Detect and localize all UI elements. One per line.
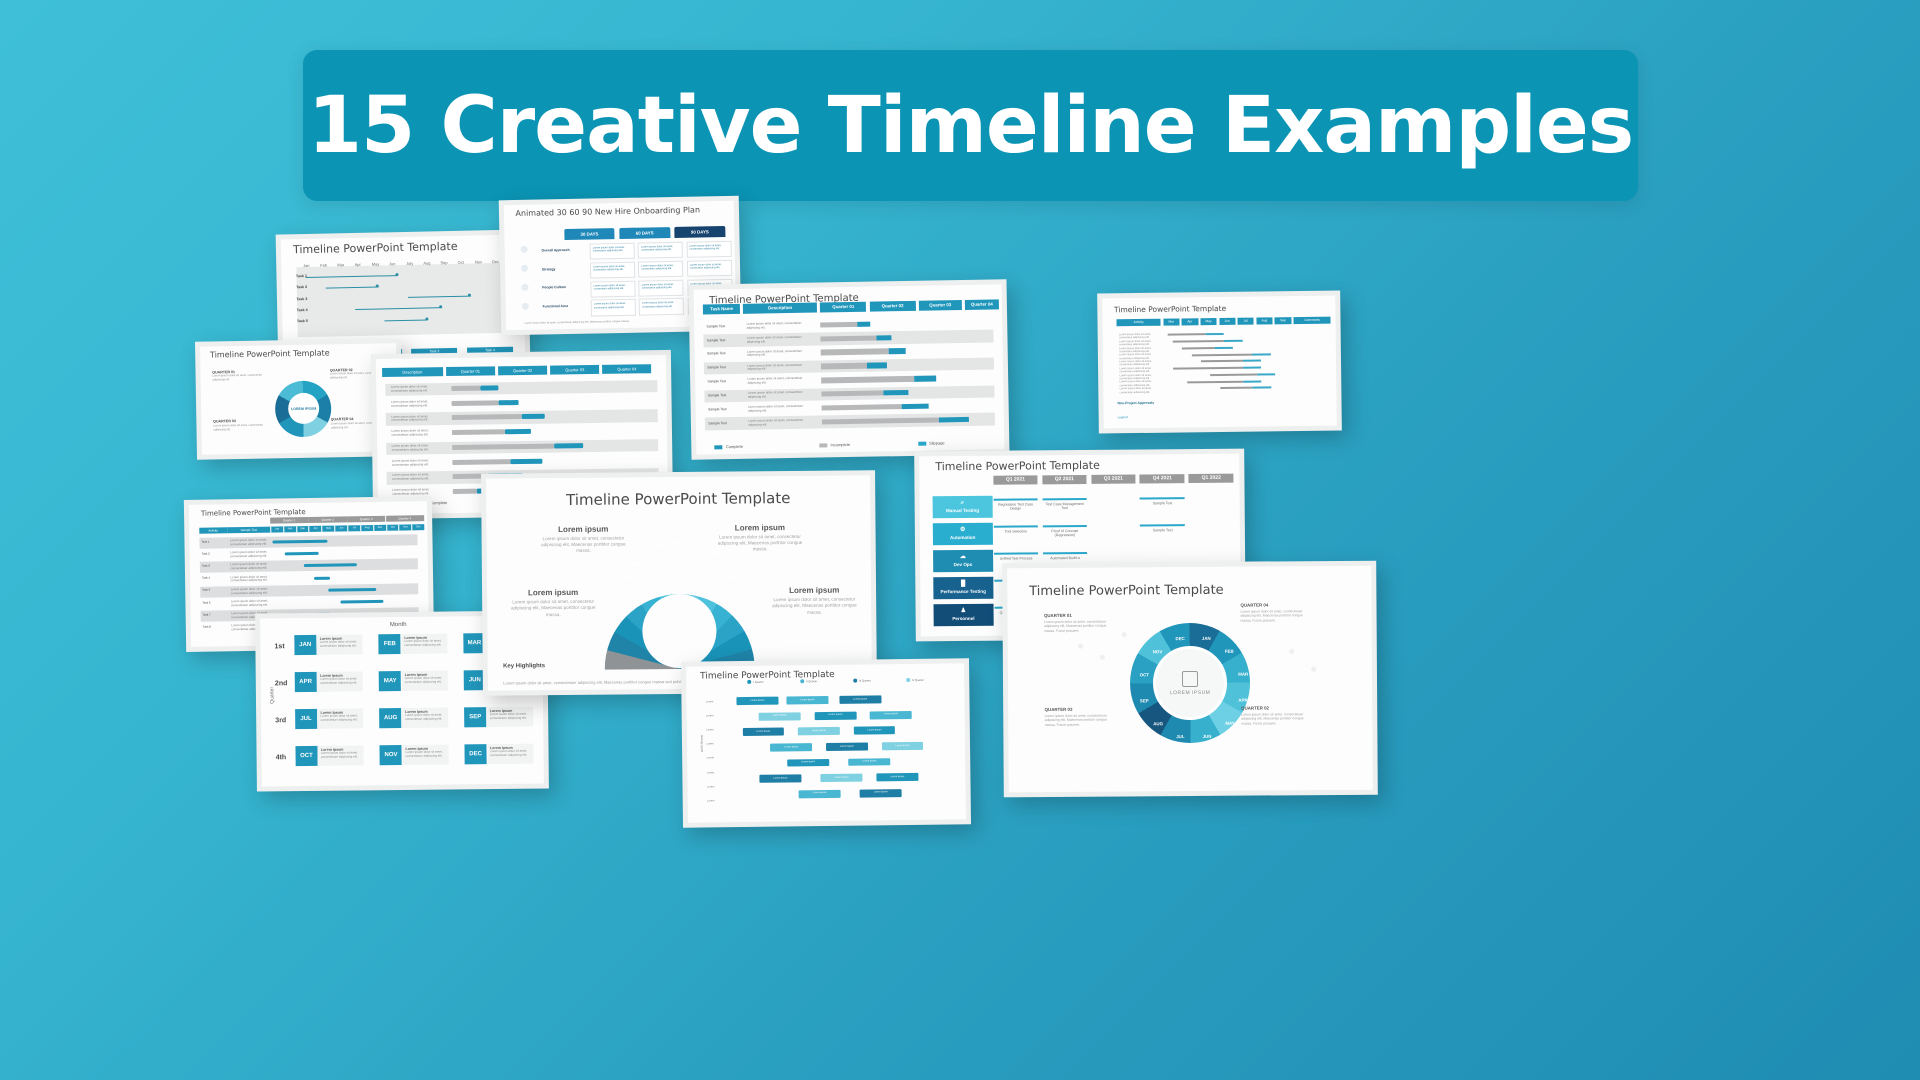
progress-grey	[822, 404, 902, 411]
column-header: Quarter 04	[965, 299, 999, 310]
month-header-row: JanFebMarAprMayJunJulyAugSepOctNovDec	[281, 234, 523, 239]
key-highlights-title: Key Highlights	[503, 663, 545, 669]
lorem-blurb: Lorem ipsumLorem ipsum dolor sit amet, c…	[771, 586, 857, 616]
flow-node: Lorem Ipsum	[854, 727, 896, 735]
month-card-text: Lorem ipsum dolor sit amet, consectetuer…	[406, 750, 443, 758]
progress-grey	[821, 349, 889, 356]
month-card: Lorem IpsumLorem ipsum dolor sit amet, c…	[487, 743, 533, 763]
month-label: MAR	[1238, 671, 1248, 676]
quarter-header: Quarter 4	[386, 515, 424, 522]
task-desc: Lorem ipsum dolor sit amet, consectetuer…	[231, 587, 269, 595]
month-header: Mar	[296, 526, 309, 532]
category-label: Performance Testing	[940, 589, 985, 594]
cloud-icon: ☁	[960, 554, 966, 561]
progress-grey	[821, 376, 913, 383]
ring-center: LOREM IPSUM	[1153, 646, 1228, 721]
month-label: SEP	[1140, 698, 1149, 703]
row-label: Lorem	[706, 743, 713, 746]
task-desc: Lorem ipsum dolor sit amet, consectetuer…	[230, 575, 268, 583]
table-header: Task NameDescriptionQuarter 01Quarter 02…	[694, 284, 1002, 289]
activity-rows: Lorem ipsum dolor sit amet, consectetur …	[1102, 296, 1335, 299]
month-label: DEC	[733, 588, 744, 594]
task-rows: Task 1Lorem ipsum dolor sit amet, consec…	[189, 501, 427, 505]
legend-item: III Quarter	[853, 678, 871, 682]
column-header: Quarter 02	[498, 366, 547, 376]
row-label: Sample Text	[707, 379, 726, 384]
item-bar	[1140, 497, 1185, 499]
row-text: Lorem ipsum dolor sit amet, consectetuer…	[747, 335, 815, 344]
task-desc: Lorem ipsum dolor sit amet, consectetuer…	[230, 539, 268, 547]
gear-icon: ⚙	[960, 527, 965, 534]
table-header: ActivitySample TextQuarter 1Quarter 2Qua…	[189, 501, 427, 505]
progress-teal	[889, 348, 906, 354]
row-label: Lorem	[706, 729, 713, 732]
category-person[interactable]: ♟Personnel	[933, 603, 993, 626]
month-header: Jun	[334, 525, 347, 531]
slide-thumbnail-flowchart[interactable]: Timeline PowerPoint Template I QuarterII…	[681, 658, 971, 828]
plan-cell: Lorem ipsum dolor sit amet, consectetur …	[590, 261, 635, 278]
month-label: Oct	[458, 259, 464, 264]
month-badge: APR	[295, 672, 317, 692]
column-header: Quarter 03	[919, 300, 962, 311]
slide-canvas: Timeline PowerPoint Template Task NameDe…	[694, 284, 1005, 454]
item-label: Test Case Management Tool	[1046, 502, 1084, 511]
progress-grey	[820, 321, 857, 327]
cell-text: Lorem ipsum dolor sit amet, consectetur …	[639, 243, 682, 255]
blurb-body: Lorem ipsum dolor sit amet, consectetur …	[540, 535, 626, 554]
month-label: JUL	[684, 540, 694, 546]
slide-canvas: Timeline PowerPoint Template LOREM IPSUM…	[1007, 566, 1373, 793]
flow-node: Lorem Ipsum	[826, 742, 868, 750]
semicircle-hole	[642, 593, 717, 668]
table-rows: Sample TextLorem ipsum dolor sit amet, c…	[694, 284, 1002, 289]
activity-bar-teal	[1257, 373, 1276, 375]
month-label: MAR	[632, 562, 643, 568]
flow-node: Lorem Ipsum	[799, 790, 841, 798]
quarter-label: QUARTER 01	[1044, 612, 1118, 618]
item-bar	[1043, 552, 1088, 554]
donut-center-label: LOREM IPSUM	[288, 393, 320, 425]
column-header: Quarter 01	[446, 367, 495, 377]
row-label: Sample Text	[706, 324, 725, 329]
quarter-header: Quarter 2	[309, 517, 347, 524]
month-label: Jun	[389, 261, 396, 266]
task-label: Task 2	[296, 285, 307, 289]
slide-thumbnail-activity-gantt[interactable]: Timeline PowerPoint Template ActivityMar…	[1097, 291, 1342, 434]
cell-text: Lorem ipsum dolor sit amet, consectetur …	[640, 280, 683, 292]
axis-label-quarter: Quarter	[269, 687, 275, 704]
row-text: Lorem ipsum dolor sit amet, consectetuer…	[391, 415, 437, 423]
task-name: Task 1	[201, 540, 209, 544]
roadmap-item: Sample Text	[1140, 524, 1185, 533]
flow-node: Lorem Ipsum	[882, 742, 924, 750]
task-name: Task 4	[202, 577, 210, 581]
slide-title: Animated 30 60 90 New Hire Onboarding Pl…	[515, 206, 700, 219]
quarter-header: Quarter 1	[270, 517, 308, 524]
row-label: Lorem	[707, 757, 714, 760]
row-label: Sample Text	[707, 352, 726, 357]
progress-teal	[481, 385, 498, 390]
flow-node: Lorem Ipsum	[798, 727, 840, 735]
month-label: APR	[643, 552, 654, 558]
row-text: Lorem ipsum dolor sit amet, consectetuer…	[747, 322, 815, 331]
legend-item: II Quarter	[800, 679, 817, 683]
legend-label: IV Quarter	[912, 678, 924, 681]
search-icon: ⌕	[961, 500, 964, 507]
category-column[interactable]: ⌕Manual Testing⚙Automation☁Dev Ops█Perfo…	[919, 454, 1239, 457]
quarter-header: Q1 2022	[1189, 473, 1234, 482]
day-tab-3[interactable]: 90 DAYS	[674, 226, 725, 238]
quarter-number: 4th	[276, 754, 287, 761]
month-card: Lorem IpsumLorem ipsum dolor sit amet, c…	[402, 744, 448, 764]
page-title-banner: 15 Creative Timeline Examples	[303, 50, 1638, 201]
activity-bar	[1182, 347, 1215, 349]
cell-text: Lorem ipsum dolor sit amet, consectetur …	[592, 300, 635, 312]
slide-title: Timeline PowerPoint Template	[1029, 582, 1224, 598]
month-card-text: Lorem ipsum dolor sit amet, consectetuer…	[321, 714, 358, 722]
task-name: Task 3	[202, 564, 210, 568]
quarter-header: Q4 2021	[1140, 474, 1185, 483]
slide-thumbnail-circular-quarters[interactable]: Timeline PowerPoint Template LOREM IPSUM…	[1002, 561, 1378, 798]
legend-swatch	[715, 445, 723, 449]
legend-dot	[853, 679, 857, 683]
legend-complete: Complete	[430, 500, 447, 505]
month-label: OCT	[1140, 672, 1149, 677]
month-label: JUN	[669, 540, 679, 546]
row-label: Lorem	[707, 771, 714, 774]
category-chart[interactable]: █Performance Testing	[933, 576, 993, 599]
task-name: Task 6	[202, 601, 210, 605]
slide-canvas: Timeline PowerPoint Template LOREM IPSUM…	[200, 343, 398, 454]
lorem-blurb: Lorem ipsumLorem ipsum dolor sit amet, c…	[510, 588, 596, 618]
blurb-heading: Lorem ipsum	[771, 586, 857, 596]
legend-dot	[800, 679, 804, 683]
column-header: Quarter 03	[550, 365, 599, 375]
document-icon	[1182, 671, 1198, 687]
row-label: Functional Area	[543, 304, 569, 308]
plan-cell: Lorem ipsum dolor sit amet, consectetur …	[638, 242, 683, 259]
quarter-number: 2nd	[275, 680, 288, 687]
month-card-text: Lorem ipsum dolor sit amet, consectetuer…	[320, 640, 357, 648]
month-header: May	[322, 525, 335, 531]
table-header: ActivityMarAprMayJunJulAugSepComments	[1102, 296, 1335, 299]
activity-bar-teal	[1215, 347, 1234, 349]
legend-label: Slippage	[929, 440, 945, 445]
item-bar	[993, 526, 1038, 528]
month-header: Jan	[270, 526, 283, 532]
month-label: Jan	[303, 263, 310, 268]
month-label: Feb	[320, 262, 327, 267]
activity-bar-teal	[1224, 340, 1243, 342]
plan-rows: Overall ApproachLorem ipsum dolor sit am…	[504, 201, 734, 205]
row-label: Sample Text	[707, 338, 726, 343]
column-header: Activity	[1116, 319, 1160, 327]
quarter-blurbs: QUARTER 01Lorem ipsum dolor sit amet, co…	[200, 343, 396, 346]
quarter-blurb: QUARTER 03Lorem ipsum dolor sit amet, co…	[213, 419, 264, 432]
activity-bar	[1168, 334, 1205, 336]
quarter-blurb: QUARTER 01Lorem ipsum dolor sit amet, co…	[1044, 612, 1118, 633]
column-header: Description	[382, 367, 443, 377]
row-label: Lorem	[706, 715, 713, 718]
cell-text: Lorem ipsum dolor sit amet, consectetur …	[688, 261, 731, 273]
row-text: Lorem ipsum dolor sit amet, consectetuer…	[748, 419, 816, 428]
month-label: MAY	[1225, 721, 1234, 726]
task-bar	[340, 600, 383, 604]
axis-label-month: Month	[390, 622, 407, 628]
month-label: APR	[1238, 698, 1247, 703]
quarter-body: Lorem ipsum dolor sit amet, consectetur …	[213, 423, 263, 431]
category-search[interactable]: ⌕Manual Testing	[932, 495, 992, 518]
task-desc: Lorem ipsum dolor sit amet, consectetuer…	[230, 563, 268, 571]
month-badge: JUL	[295, 709, 317, 729]
flow-node: Lorem Ipsum	[848, 758, 890, 766]
month-label: OCT	[721, 561, 732, 567]
month-card-text: Lorem ipsum dolor sit amet, consectetuer…	[320, 677, 357, 685]
axis-label-workstream: Work Stream	[699, 735, 703, 753]
cell-text: Lorem ipsum dolor sit amet, consectetur …	[687, 242, 730, 254]
blurb-heading: Lorem ipsum	[540, 524, 626, 534]
category-label: Personnel	[952, 616, 974, 621]
row-labels: LoremLoremLoremLoremLoremLoremLoremLorem	[686, 663, 964, 666]
activity-bar	[1191, 353, 1252, 356]
month-badge: NOV	[380, 745, 402, 765]
quarter-header: Quarter 3	[347, 516, 385, 523]
column-header: Jun	[1219, 318, 1235, 325]
month-label: Aug	[423, 260, 430, 265]
legend-label: Legend	[1118, 415, 1128, 419]
task-bar	[285, 552, 318, 556]
activity-bar-teal	[1252, 387, 1271, 389]
flow-nodes: Lorem IpsumLorem IpsumLorem IpsumLorem I…	[686, 663, 964, 666]
flow-node: Lorem Ipsum	[821, 774, 863, 782]
lorem-blurb: Lorem ipsumLorem ipsum dolor sit amet, c…	[717, 523, 803, 553]
month-label: AUG	[1153, 721, 1163, 726]
legend: CompleteIncompleteSlippage	[694, 284, 1002, 289]
row-label: Sample Text	[708, 407, 727, 412]
month-label: JAN	[1202, 636, 1211, 641]
flow-node: Lorem Ipsum	[759, 712, 801, 720]
slide-canvas: Timeline PowerPoint Template Lorem ipsum…	[486, 475, 872, 690]
month-header: Oct	[386, 524, 399, 530]
month-header: Dec	[412, 524, 425, 530]
slide-title: Timeline PowerPoint Template	[210, 348, 330, 359]
item-label: Tool Selection	[1005, 529, 1027, 533]
activity-bar	[1201, 360, 1243, 363]
plan-cell: Lorem ipsum dolor sit amet, consectetur …	[639, 279, 684, 296]
item-bar	[1042, 498, 1087, 500]
month-label: NOV	[1153, 649, 1163, 654]
person-icon: ♟	[961, 608, 966, 615]
column-header: Sep	[1275, 317, 1291, 324]
plan-cell: Lorem ipsum dolor sit amet, consectetur …	[591, 299, 636, 316]
month-card: Lorem IpsumLorem ipsum dolor sit amet, c…	[317, 671, 363, 691]
flow-node: Lorem Ipsum	[860, 789, 902, 797]
month-card-text: Lorem ipsum dolor sit amet, consectetuer…	[490, 749, 527, 757]
progress-teal	[857, 321, 869, 327]
row-text: Lorem ipsum dolor sit amet, consectetuer…	[391, 385, 437, 393]
task-name: Task 7	[202, 613, 210, 617]
column-header: Jul	[1238, 317, 1254, 324]
item-label: Regression Test Case Design	[998, 502, 1033, 511]
row-label: Strategy	[542, 267, 556, 271]
slide-title: Timeline PowerPoint Template	[293, 240, 458, 256]
flow-node: Lorem Ipsum	[770, 743, 812, 751]
column-header: Quarter 04	[602, 364, 651, 374]
column-header-activity: Activity	[199, 527, 228, 533]
section-label: Non-Project Approvals	[1117, 400, 1154, 404]
task-bar	[314, 576, 331, 579]
month-card: Lorem IpsumLorem ipsum dolor sit amet, c…	[401, 633, 447, 653]
progress-grey	[821, 363, 867, 369]
cell-text: Lorem ipsum dolor sit amet, consectetur …	[591, 281, 634, 293]
progress-teal	[511, 458, 543, 463]
legend-label: II Quarter	[806, 680, 817, 683]
month-card: Lorem IpsumLorem ipsum dolor sit amet, c…	[402, 707, 448, 727]
roadmap-item: Regression Test Case Design	[993, 499, 1038, 512]
day-tab-1[interactable]: 30 DAYS	[564, 228, 615, 240]
flow-node: Lorem Ipsum	[736, 697, 778, 705]
task-desc: Lorem ipsum dolor sit amet, consectetuer…	[231, 600, 269, 608]
category-label: Manual Testing	[946, 508, 979, 513]
row-label: Lorem	[707, 799, 714, 802]
progress-grey	[452, 429, 504, 435]
ring-center-label: LOREM IPSUM	[1170, 690, 1211, 696]
plan-cell: Lorem ipsum dolor sit amet, consectetur …	[638, 261, 683, 278]
row-text: Lorem ipsum dolor sit amet, consectetuer…	[391, 429, 437, 437]
progress-teal	[522, 414, 545, 419]
progress-teal	[914, 376, 936, 382]
month-label: MAY	[655, 544, 666, 550]
column-header: Description	[743, 302, 817, 313]
legend-label: I Quarter	[753, 680, 763, 683]
column-header-sample: Sample Text	[227, 526, 270, 533]
progress-grey	[821, 335, 877, 341]
month-badge: MAY	[379, 671, 401, 691]
month-card-text: Lorem ipsum dolor sit amet, consectetuer…	[490, 712, 527, 720]
column-header: Aug	[1256, 317, 1272, 324]
task-desc: Lorem ipsum dolor sit amet, consectetuer…	[230, 551, 268, 559]
month-label: Mar	[337, 262, 344, 267]
slide-title: Timeline PowerPoint Template	[1114, 303, 1226, 313]
task-name: Task 5	[202, 589, 210, 593]
quarter-header: Q1 2021	[993, 475, 1038, 484]
item-bar	[1042, 525, 1087, 527]
day-tab-2[interactable]: 60 DAYS	[619, 227, 670, 239]
task-buttons[interactable]: Task 1Lorem ipsum dolor sit ametTask 2Lo…	[281, 234, 523, 239]
category-gear[interactable]: ⚙Automation	[933, 522, 993, 545]
blurb-body: Lorem ipsum dolor sit amet, consectetur …	[771, 597, 857, 616]
column-header: Task Name	[703, 304, 740, 315]
progress-grey	[453, 459, 511, 465]
row-label: Sample Text	[707, 365, 726, 370]
progress-teal	[939, 417, 969, 423]
roadmap-item: Tool Selection	[993, 526, 1038, 535]
row-label: Sample Text	[708, 393, 727, 398]
row-text: Lorem ipsum dolor sit amet, consectetuer…	[392, 444, 438, 452]
quarter-blurb: QUARTER 03Lorem ipsum dolor sit amet, co…	[1045, 706, 1119, 727]
flow-node: Lorem Ipsum	[760, 774, 802, 782]
donut-chart: LOREM IPSUM	[275, 380, 332, 437]
month-card: Lorem IpsumLorem ipsum dolor sit amet, c…	[318, 745, 364, 765]
lorem-blurbs: Lorem ipsumLorem ipsum dolor sit amet, c…	[486, 475, 870, 478]
month-badge: OCT	[295, 746, 317, 766]
legend-label: Complete	[726, 444, 743, 449]
month-card: Lorem IpsumLorem ipsum dolor sit amet, c…	[317, 634, 363, 654]
cell-text: Lorem ipsum dolor sit amet, consectetur …	[639, 262, 682, 274]
task-milestone-dot	[395, 273, 398, 276]
legend-item: Slippage	[918, 440, 945, 445]
legend-label: Incomplete	[830, 442, 850, 447]
legend-dot	[906, 678, 910, 682]
lorem-blurb: Lorem ipsumLorem ipsum dolor sit amet, c…	[540, 524, 626, 554]
month-label: DEC	[1175, 636, 1184, 641]
month-header: Apr	[309, 526, 322, 532]
task-name: Task 2	[202, 552, 210, 556]
flow-node: Lorem Ipsum	[876, 773, 918, 781]
slide-canvas: Timeline PowerPoint Template I QuarterII…	[686, 663, 966, 822]
row-text: Lorem ipsum dolor sit amet, consectetuer…	[747, 377, 815, 386]
activity-bar	[1210, 373, 1257, 376]
row-text: Lorem ipsum dolor sit amet, consectetuer…	[748, 391, 816, 400]
activity-bar-teal	[1205, 333, 1224, 335]
item-bar	[1140, 524, 1185, 526]
row-text: Lorem ipsum dolor sit amet, consectetuer…	[747, 349, 815, 358]
progress-teal	[554, 443, 583, 448]
slide-footer-note: Lorem ipsum dolor sit amet, consectetuer…	[524, 320, 629, 325]
task-label: Task 5	[297, 319, 308, 323]
category-cloud[interactable]: ☁Dev Ops	[933, 549, 993, 572]
row-icon	[521, 284, 528, 291]
month-label: Sep	[440, 260, 447, 265]
month-label: JUN	[1203, 734, 1212, 739]
month-badge: SEP	[464, 707, 486, 727]
plan-cell: Lorem ipsum dolor sit amet, consectetur …	[639, 298, 684, 315]
quarter-blurb: QUARTER 04Lorem ipsum dolor sit amet, co…	[1240, 602, 1314, 623]
slide-thumbnail-timeline-table[interactable]: Timeline PowerPoint Template Task NameDe…	[688, 279, 1009, 460]
cell-text: Lorem ipsum dolor sit amet, consectetur …	[591, 244, 634, 256]
activity-bar-teal	[1243, 360, 1262, 362]
roadmap-item: Automated Build-a	[1043, 552, 1088, 561]
month-card: Lorem IpsumLorem ipsum dolor sit amet, c…	[487, 706, 533, 726]
month-label: May	[372, 261, 380, 266]
chart-icon: █	[961, 581, 965, 588]
category-label: Automation	[950, 535, 976, 540]
row-label: Sample Text	[708, 421, 727, 426]
month-header: Nov	[399, 524, 412, 530]
row-text: Lorem ipsum dolor sit amet, consectetuer…	[392, 459, 438, 467]
quarter-number: 3rd	[275, 717, 286, 724]
month-label: SEP	[711, 551, 721, 557]
month-card: Lorem IpsumLorem ipsum dolor sit amet, c…	[402, 670, 448, 690]
quarter-headers: Q1 2021Q2 2021Q3 2021Q4 2021Q1 2022	[919, 454, 1239, 457]
legend-item: I Quarter	[747, 680, 763, 684]
blurb-heading: Lorem ipsum	[717, 523, 803, 533]
blurb-body: Lorem ipsum dolor sit amet, consectetur …	[717, 534, 803, 553]
day-tabs[interactable]: 30 DAYS60 DAYS90 DAYS	[504, 201, 734, 205]
row-label: Lorem	[706, 701, 713, 704]
legend-dot	[747, 680, 751, 684]
legend-item: Complete	[715, 444, 743, 449]
row-label: Lorem	[707, 785, 714, 788]
quarter-legend: I QuarterII QuarterIII QuarterIV Quarter	[686, 663, 964, 666]
roadmap-items: Regression Test Case DesignTest Case Man…	[919, 454, 1239, 457]
month-card-text: Lorem ipsum dolor sit amet, consectetuer…	[321, 751, 358, 759]
blurb-heading: Lorem ipsum	[510, 588, 596, 598]
item-bar	[994, 553, 1039, 555]
column-header: Quarter 01	[820, 302, 866, 313]
activity-bar	[1173, 367, 1243, 370]
task-rows: Task 1Task 2Task 3Task 4Task 5	[281, 234, 523, 239]
